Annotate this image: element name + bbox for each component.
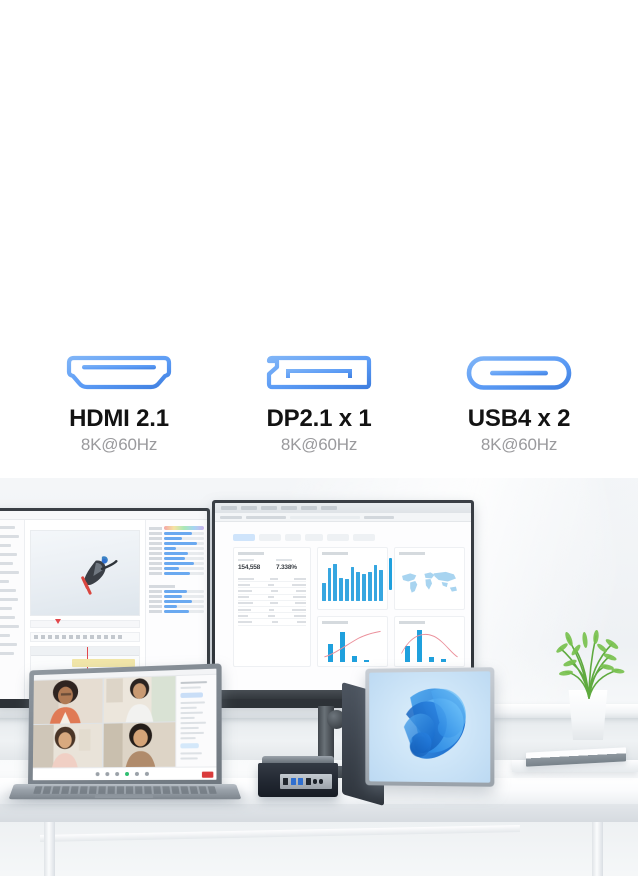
desk-leg — [44, 822, 55, 876]
video-call-controls[interactable] — [33, 766, 217, 780]
mini-pc-port-panel[interactable] — [280, 774, 332, 789]
participant-tile[interactable] — [103, 676, 175, 722]
kpi-rate: 7.338% — [276, 559, 306, 571]
dashboard-summary-card: 154,558 7.338% — [233, 547, 311, 667]
dashboard-tab[interactable] — [259, 534, 281, 541]
record-icon[interactable] — [125, 772, 129, 776]
laptop-lid — [28, 663, 222, 788]
bar-11 — [379, 570, 383, 601]
windows-bloom-wallpaper — [369, 671, 490, 782]
desk-scene-photo: 154,558 7.338% — [0, 478, 638, 876]
dashboard-tab[interactable] — [305, 534, 323, 541]
mini-pc[interactable] — [258, 756, 338, 800]
chat-icon[interactable] — [135, 772, 139, 776]
table-row — [238, 619, 306, 625]
leave-call-button[interactable] — [202, 772, 213, 778]
bar-4 — [339, 578, 343, 601]
bar-chart — [322, 559, 383, 601]
browser-tabstrip[interactable] — [215, 503, 471, 513]
usb-port-icon — [298, 778, 303, 785]
feature-subtitle: 8K@60Hz — [219, 436, 419, 455]
tablet-body — [365, 667, 494, 787]
video-icon[interactable] — [105, 772, 109, 776]
video-scrubber[interactable] — [30, 620, 140, 628]
tablet-screen — [369, 671, 490, 782]
mute-icon[interactable] — [96, 772, 100, 776]
video-preview — [30, 530, 140, 616]
share-icon[interactable] — [115, 772, 119, 776]
feature-displayport: DP2.1 x 1 8K@60Hz — [219, 352, 419, 455]
feature-hdmi: HDMI 2.1 8K@60Hz — [19, 352, 219, 455]
bar-7 — [356, 572, 360, 601]
dashboard-bar-chart-card — [317, 547, 388, 610]
dashboard-tab[interactable] — [327, 534, 349, 541]
potted-plant — [552, 630, 626, 700]
feature-title: USB4 x 2 — [419, 406, 619, 431]
feature-subtitle: 8K@60Hz — [19, 436, 219, 455]
bar-5 — [345, 579, 349, 601]
dashboard-worldmap-card — [394, 547, 465, 610]
laptop-screen — [33, 669, 217, 781]
tablet[interactable] — [342, 668, 494, 798]
bar-9 — [368, 572, 372, 601]
browser-address-bar[interactable] — [215, 513, 471, 522]
kpi-value: 7.338% — [276, 564, 306, 571]
features-chart — [399, 628, 460, 662]
laptop-base — [9, 784, 242, 799]
laptop[interactable] — [14, 666, 236, 818]
dashboard-tab[interactable] — [353, 534, 375, 541]
dashboard-grid: 154,558 7.338% — [233, 547, 465, 667]
participants-icon[interactable] — [145, 772, 149, 776]
feature-title: HDMI 2.1 — [19, 406, 219, 431]
kpi-value: 154,558 — [238, 564, 268, 571]
usb-c-port-icon — [313, 779, 317, 784]
participant-tile[interactable] — [33, 679, 102, 724]
hdmi-port-icon — [19, 352, 219, 394]
bar-2 — [328, 568, 332, 601]
dashboard-features-card — [394, 616, 465, 667]
power-port-icon — [283, 778, 288, 785]
video-call-grid — [33, 676, 176, 768]
laptop-keyboard[interactable] — [33, 786, 217, 794]
screenshot-stage: HDMI 2.1 8K@60Hz DP2.1 x — [0, 0, 638, 876]
dashboard-tab[interactable] — [285, 534, 301, 541]
world-map — [399, 559, 460, 605]
bar-1 — [322, 583, 326, 601]
bar-6 — [351, 567, 355, 601]
bar-10 — [374, 565, 378, 601]
dashboard-revenue-card — [317, 616, 388, 667]
mini-pc-body — [258, 763, 338, 797]
video-call-chat-panel[interactable] — [175, 675, 216, 767]
audio-jack-icon — [319, 779, 323, 784]
video-editor-menubar — [0, 511, 207, 520]
port-feature-row: HDMI 2.1 8K@60Hz DP2.1 x — [0, 352, 638, 480]
dashboard-tab[interactable] — [233, 534, 255, 541]
dashboard-table — [238, 576, 306, 626]
usb-c-port-icon — [419, 352, 619, 394]
revenue-chart — [322, 628, 383, 662]
kpi-total: 154,558 — [238, 559, 268, 571]
bar-3 — [333, 564, 337, 601]
hdmi-port-icon — [306, 778, 311, 785]
usb-port-icon — [291, 778, 296, 785]
dashboard-tabs[interactable] — [233, 534, 465, 541]
participant-tile[interactable] — [103, 722, 175, 767]
video-editor-toolbar[interactable] — [30, 632, 140, 642]
feature-usb4: USB4 x 2 8K@60Hz — [419, 352, 619, 455]
bar-8 — [362, 574, 366, 601]
displayport-icon — [219, 352, 419, 394]
desk-leg — [592, 822, 603, 876]
participant-tile[interactable] — [33, 723, 102, 767]
snowboarder-figure — [73, 549, 118, 601]
laptop-trackpad[interactable] — [95, 795, 154, 798]
feature-title: DP2.1 x 1 — [219, 406, 419, 431]
feature-subtitle: 8K@60Hz — [419, 436, 619, 455]
